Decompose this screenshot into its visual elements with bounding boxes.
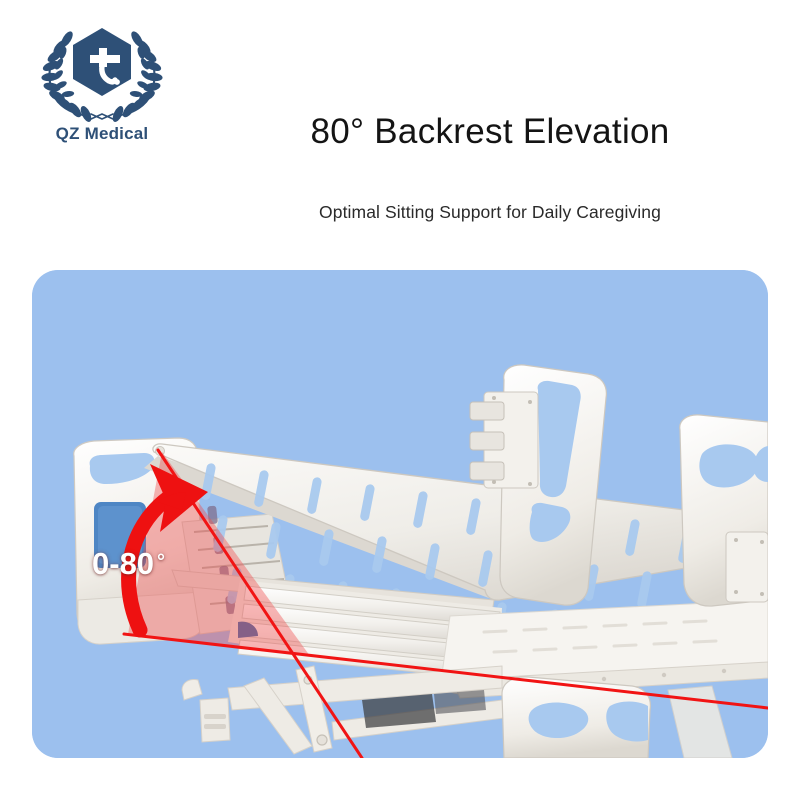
hexagon-badge-icon	[73, 28, 131, 96]
page-subtitle: Optimal Sitting Support for Daily Caregi…	[180, 202, 800, 223]
brand-logo-block: QZ Medical	[22, 22, 182, 162]
brand-name-label: QZ Medical	[56, 124, 149, 144]
hexagon-medical-cross-laurel-icon	[27, 22, 177, 122]
rail-bracket	[470, 392, 538, 488]
side-rail-right	[680, 415, 768, 606]
hospital-bed-backrest-elevation-photo	[32, 270, 768, 758]
page-title: 80° Backrest Elevation	[180, 112, 800, 152]
product-feature-card: QZ Medical 80° Backrest Elevation Optima…	[0, 0, 800, 800]
